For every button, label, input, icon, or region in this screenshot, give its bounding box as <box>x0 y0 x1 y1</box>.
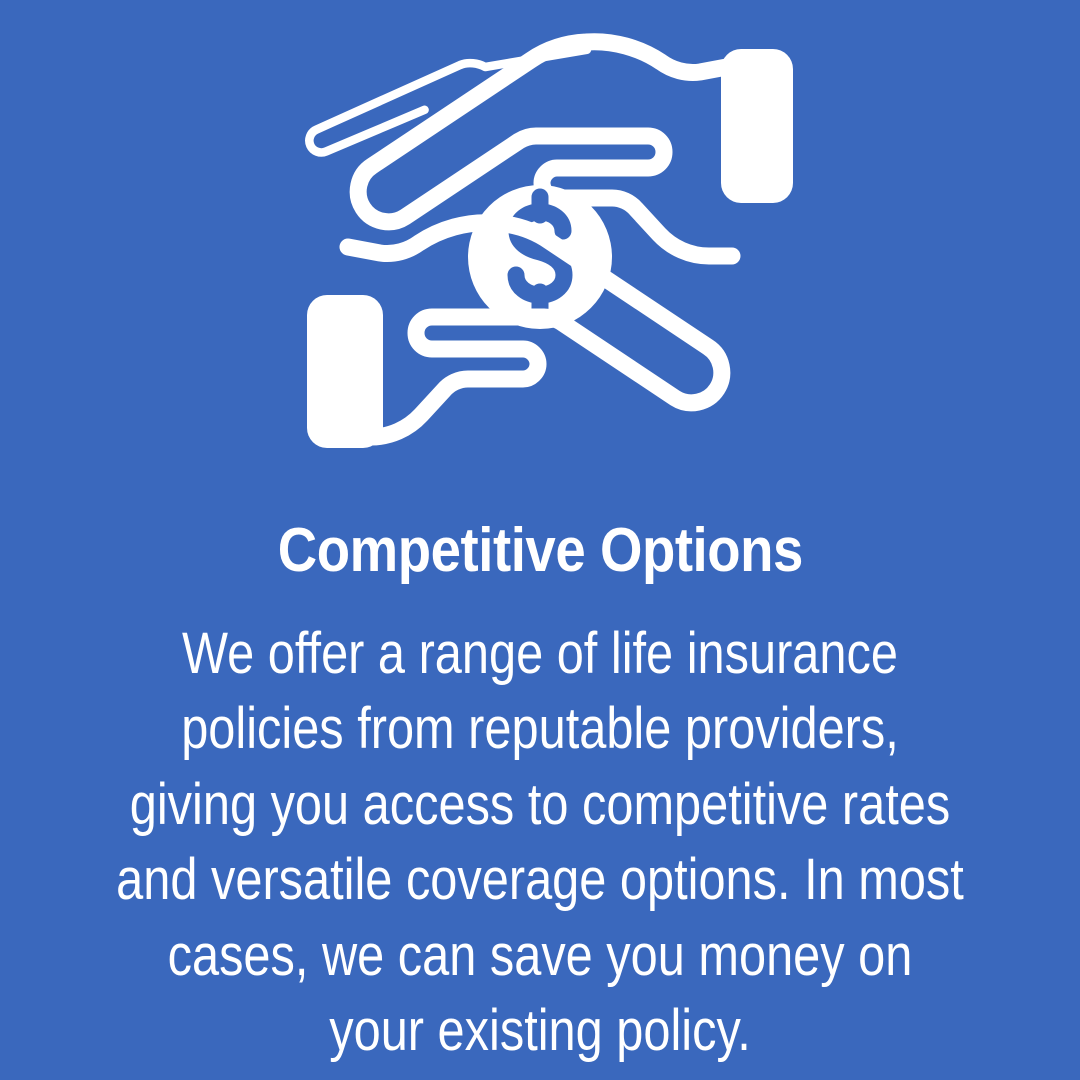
hands-exchanging-money-icon <box>280 30 800 490</box>
body-paragraph: We offer a range of life insurance polic… <box>116 616 964 1068</box>
text-container: Competitive Options We offer a range of … <box>35 520 1045 1068</box>
upper-cuff <box>721 49 793 203</box>
promo-card: Competitive Options We offer a range of … <box>0 0 1080 1080</box>
page-title: Competitive Options <box>277 520 802 582</box>
icon-container <box>0 0 1080 520</box>
lower-cuff <box>307 295 383 448</box>
dollar-coin-icon <box>468 185 612 329</box>
